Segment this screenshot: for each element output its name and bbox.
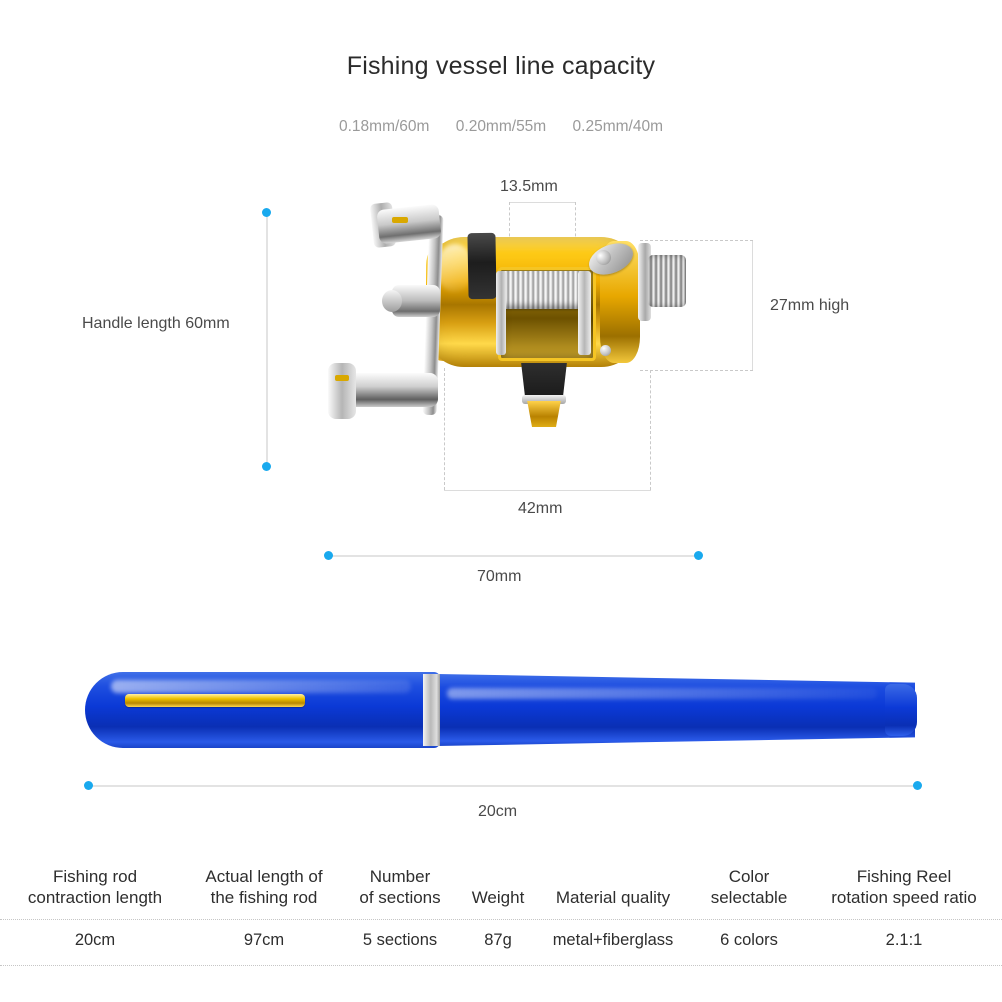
reel-spool-post-right bbox=[578, 271, 591, 355]
reel-upper-knob-accent bbox=[392, 217, 408, 223]
reel-spool-post-left bbox=[496, 271, 506, 355]
table-column-actual-length: Actual length of the fishing rod 97cm bbox=[190, 866, 338, 908]
reel-crank-hex-nut bbox=[392, 285, 440, 317]
line-capacity-item-3: 0.25mm/40m bbox=[573, 118, 663, 136]
table-header: Material quality bbox=[534, 866, 692, 908]
infographic-canvas: Fishing vessel line capacity 0.18mm/60m … bbox=[0, 0, 1002, 1002]
pen-barrel bbox=[437, 674, 915, 746]
pen-cap bbox=[85, 672, 440, 748]
page-title: Fishing vessel line capacity bbox=[0, 52, 1002, 81]
reel-spooled-line bbox=[500, 271, 588, 309]
table-column-rotation-speed-ratio: Fishing Reel rotation speed ratio 2.1:1 bbox=[806, 866, 1002, 908]
table-header: Color selectable bbox=[692, 866, 806, 908]
table-cell: 20cm bbox=[0, 931, 190, 950]
table-cell: 87g bbox=[462, 931, 534, 950]
handle-length-dot-top bbox=[262, 208, 271, 217]
table-header: Fishing Reel rotation speed ratio bbox=[806, 866, 1002, 908]
handle-length-dot-bottom bbox=[262, 462, 271, 471]
table-header: Actual length of the fishing rod bbox=[190, 866, 338, 908]
table-cell: 97cm bbox=[190, 931, 338, 950]
pen-length-dot-right bbox=[913, 781, 922, 790]
table-separator-bottom bbox=[0, 965, 1002, 966]
reel-knurled-drag-knob bbox=[648, 255, 686, 307]
overall-width-dot-right bbox=[694, 551, 703, 560]
table-header: Weight bbox=[462, 866, 534, 908]
reel-thumb-bar bbox=[467, 233, 496, 299]
pen-chrome-band bbox=[423, 674, 440, 746]
table-column-contraction-length: Fishing rod contraction length 20cm bbox=[0, 866, 190, 908]
height-label: 27mm high bbox=[770, 297, 849, 315]
pen-length-dot-left bbox=[84, 781, 93, 790]
body-width-label: 42mm bbox=[518, 500, 562, 518]
reel-upper-handle-knob bbox=[376, 204, 441, 244]
handle-length-dimension-line bbox=[266, 214, 268, 466]
table-cell: 6 colors bbox=[692, 931, 806, 950]
reel-lower-handle-knob bbox=[348, 373, 438, 407]
pen-gold-clip bbox=[125, 694, 305, 707]
table-cell: 2.1:1 bbox=[806, 931, 1002, 950]
table-separator-top bbox=[0, 919, 1002, 920]
line-capacity-item-2: 0.20mm/55m bbox=[456, 118, 546, 136]
pen-length-label: 20cm bbox=[478, 803, 517, 821]
fishing-reel-image bbox=[300, 195, 720, 500]
reel-mounting-foot bbox=[518, 363, 570, 399]
reel-body-screw bbox=[600, 345, 611, 356]
table-cell: metal+fiberglass bbox=[534, 931, 692, 950]
table-column-weight: Weight 87g bbox=[462, 866, 534, 908]
table-header: Number of sections bbox=[338, 866, 462, 908]
spec-table: Fishing rod contraction length 20cm Actu… bbox=[0, 862, 1002, 980]
line-capacity-list: 0.18mm/60m 0.20mm/55m 0.25mm/40m bbox=[0, 118, 1002, 136]
line-capacity-item-1: 0.18mm/60m bbox=[339, 118, 429, 136]
overall-width-label: 70mm bbox=[477, 568, 521, 586]
pen-tip bbox=[885, 684, 917, 736]
table-column-material-quality: Material quality metal+fiberglass bbox=[534, 866, 692, 908]
reel-lower-knob-disc bbox=[328, 363, 356, 419]
handle-length-label: Handle length 60mm bbox=[82, 315, 230, 333]
overall-width-dimension-line bbox=[329, 555, 697, 557]
top-width-label: 13.5mm bbox=[500, 178, 558, 196]
table-cell: 5 sections bbox=[338, 931, 462, 950]
height-guide-vertical bbox=[752, 240, 753, 370]
table-header: Fishing rod contraction length bbox=[0, 866, 190, 908]
pen-length-dimension-line bbox=[90, 785, 916, 787]
table-column-color-selectable: Color selectable 6 colors bbox=[692, 866, 806, 908]
pen-fishing-rod-image bbox=[85, 668, 920, 752]
table-column-number-of-sections: Number of sections 5 sections bbox=[338, 866, 462, 908]
overall-width-dot-left bbox=[324, 551, 333, 560]
reel-foot-gold-base bbox=[524, 401, 564, 427]
